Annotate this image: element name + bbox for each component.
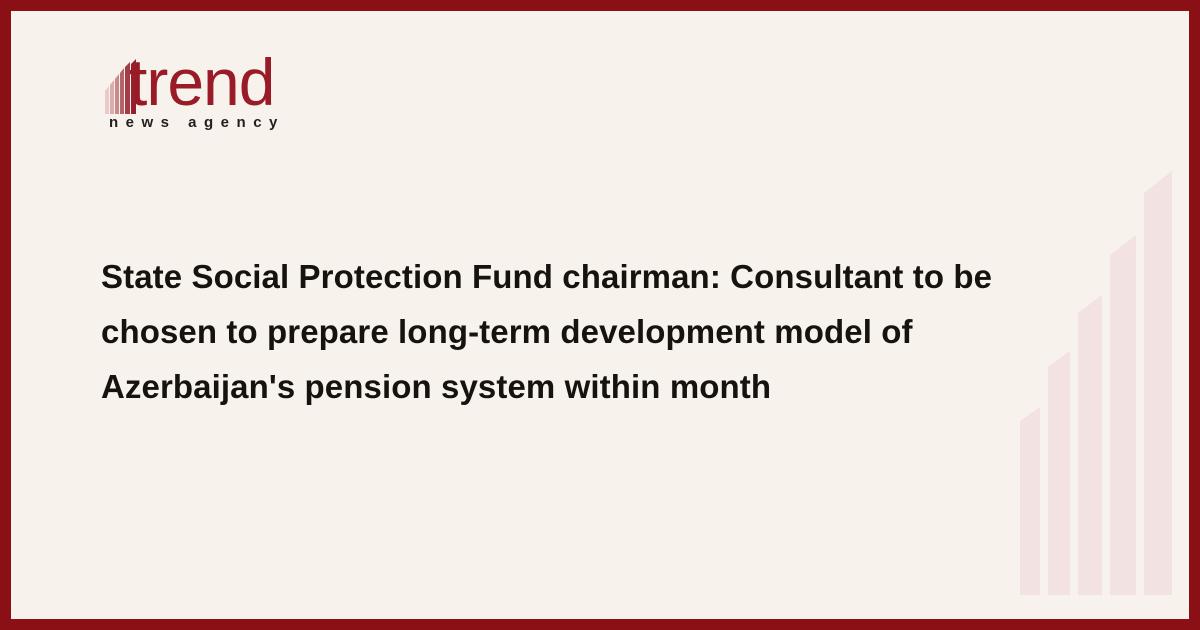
deco-bar-4 <box>1110 235 1136 595</box>
article-share-card: trend news agency State Social Protectio… <box>0 0 1200 630</box>
trend-news-agency-logo[interactable]: trend news agency <box>101 53 431 145</box>
deco-bar-3 <box>1078 295 1102 595</box>
logo-bar-4 <box>120 68 124 114</box>
logo-tagline: news agency <box>109 115 285 130</box>
page-title: State Social Protection Fund chairman: C… <box>101 249 1001 414</box>
logo-bar-1 <box>105 86 109 114</box>
ascending-bars-graphic <box>1020 165 1180 595</box>
logo-bar-2 <box>110 80 114 114</box>
deco-bar-5 <box>1144 171 1172 595</box>
deco-bar-1 <box>1020 407 1040 595</box>
logo-bar-3 <box>115 74 119 114</box>
deco-bar-2 <box>1048 351 1070 595</box>
logo-wordmark: trend <box>129 49 274 115</box>
